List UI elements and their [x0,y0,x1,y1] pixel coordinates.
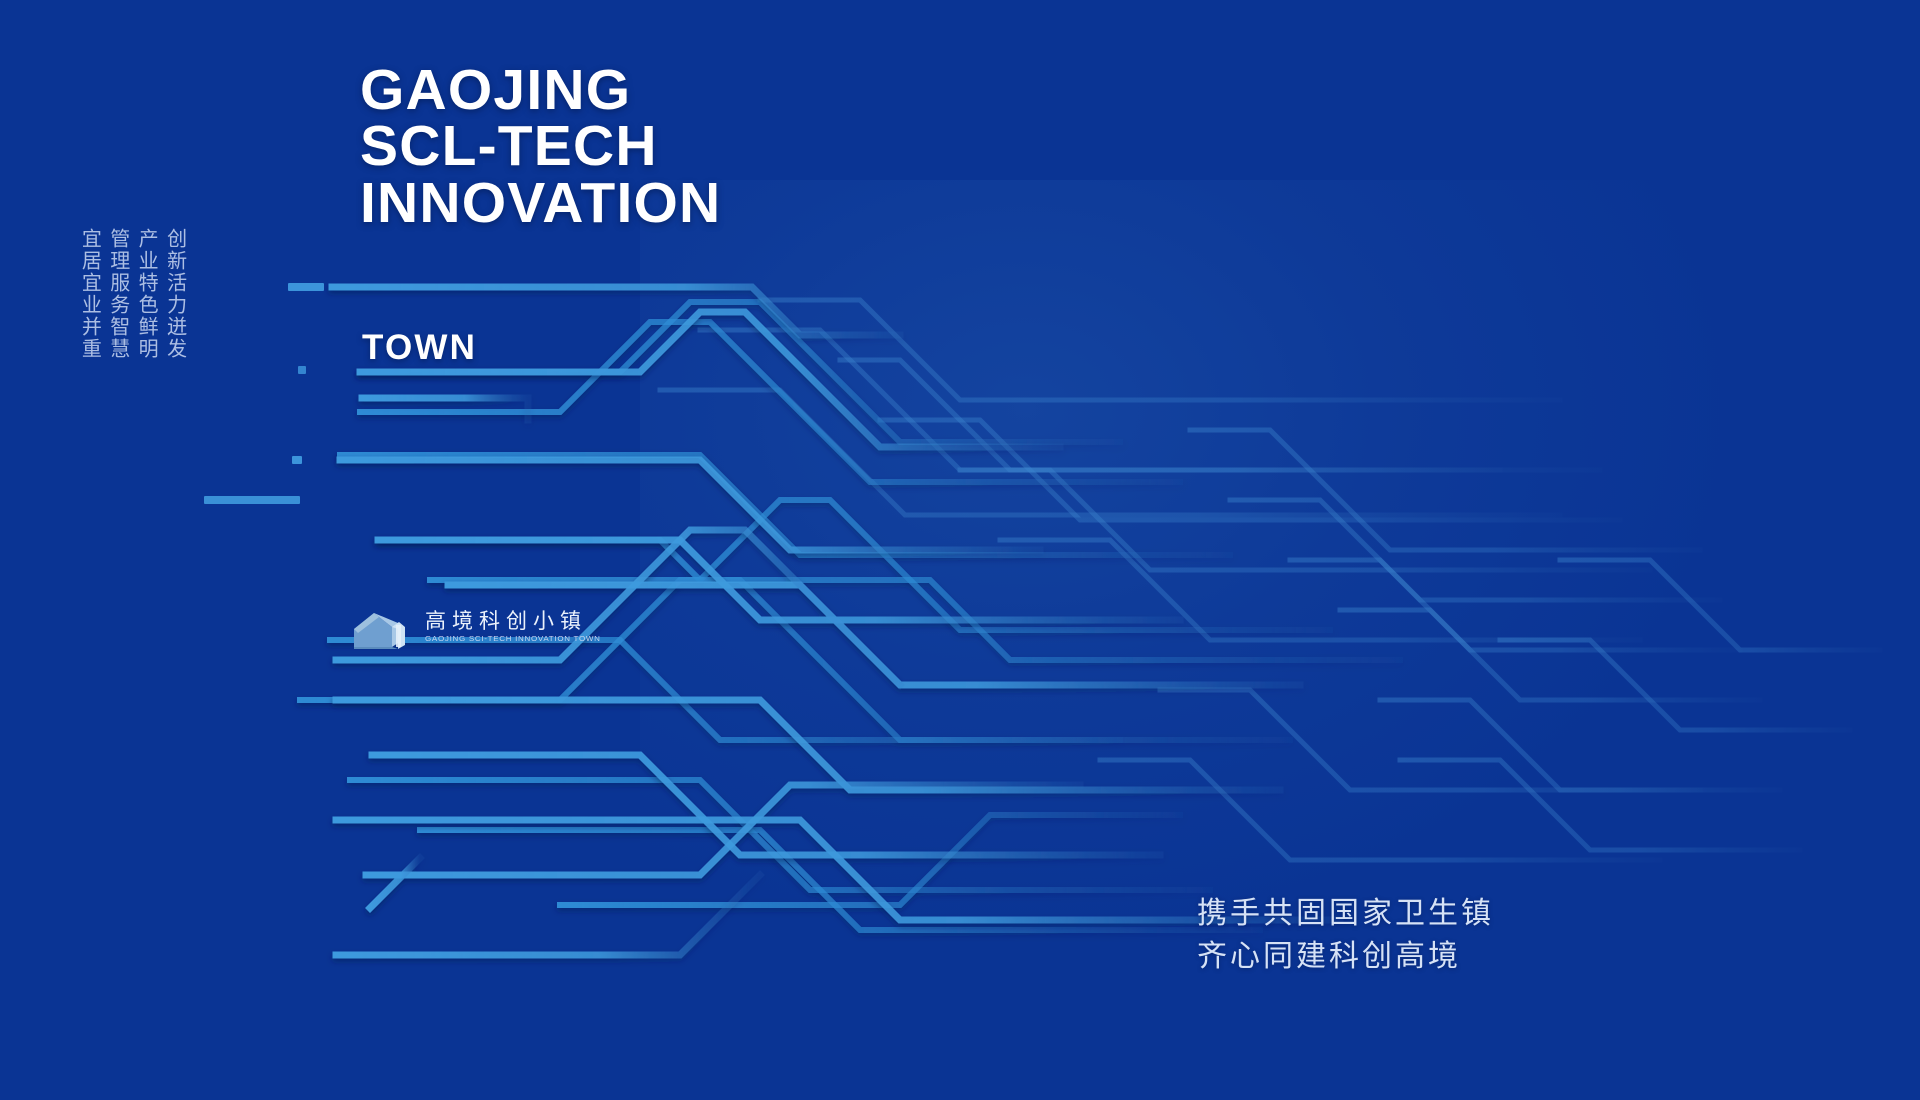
dash-accent-2 [292,456,302,464]
dash-accent-1 [288,283,324,291]
title-line-2: SCL-TECH [360,118,721,174]
page-title: GAOJING SCL-TECH INNOVATION [360,62,721,231]
title-line-3: INNOVATION [360,175,721,231]
title-subtitle: TOWN [362,328,477,368]
logo-name-en: GAOJING SCI-TECH INNOVATION TOWN [425,635,601,642]
logo-text: 高境科创小镇 GAOJING SCI-TECH INNOVATION TOWN [425,611,601,643]
dash-accent-4 [298,366,306,374]
circuit-trace-artwork [0,0,1920,1100]
vertical-slogan-column-2: 产业特色鲜明 [135,228,159,360]
campaign-slogan-line-1: 携手共固国家卫生镇 [1197,893,1494,936]
campaign-slogan: 携手共固国家卫生镇 齐心同建科创高境 [1197,893,1494,978]
vertical-slogan-column-1: 创新活力迸发 [163,228,187,360]
dash-accents [204,283,324,504]
circuit-layer-back [660,300,1880,860]
background-glow [640,180,1740,940]
vertical-slogan-column-4: 宜居宜业并重 [78,228,102,360]
house-building-icon [352,605,414,649]
poster-canvas: 创新活力迸发 产业特色鲜明 管理服务智慧 宜居宜业并重 GAOJING SCL-… [0,0,1920,1100]
vertical-slogan: 创新活力迸发 产业特色鲜明 管理服务智慧 宜居宜业并重 [78,228,188,360]
vertical-slogan-column-3: 管理服务智慧 [106,228,130,360]
logo-name-cn: 高境科创小镇 [425,611,601,632]
campaign-slogan-line-2: 齐心同建科创高境 [1197,936,1494,979]
logo-lockup: 高境科创小镇 GAOJING SCI-TECH INNOVATION TOWN [352,605,601,649]
title-line-1: GAOJING [360,62,721,118]
dash-accent-3 [204,496,300,504]
